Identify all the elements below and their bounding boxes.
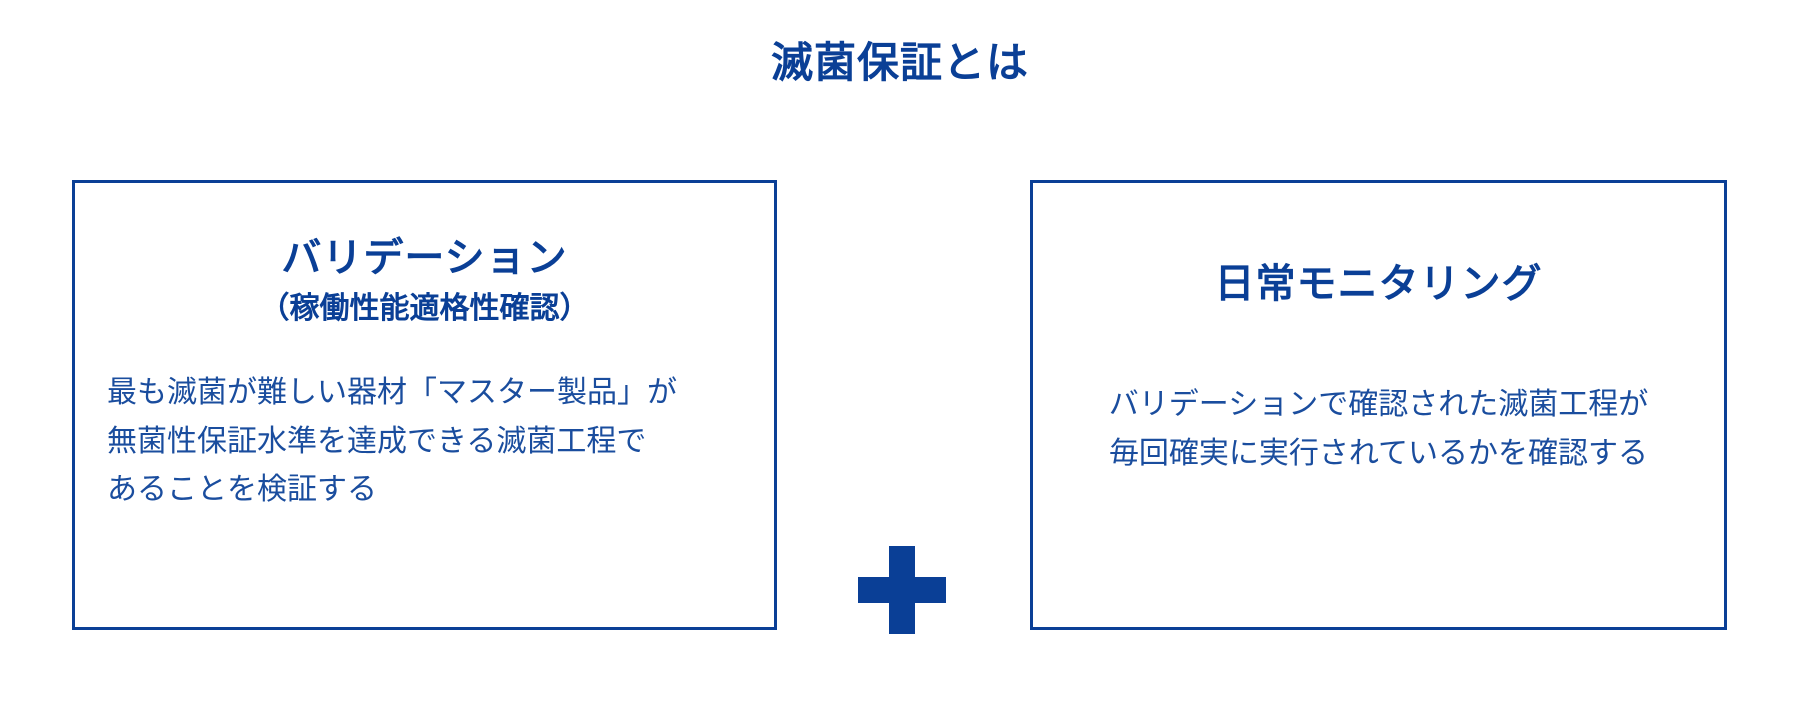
panel-validation: バリデーション （稼働性能適格性確認） 最も滅菌が難しい器材「マスター製品」が … [72, 180, 777, 630]
panel-validation-heading: バリデーション [75, 235, 774, 281]
page-title: 滅菌保証とは [0, 38, 1800, 88]
plus-icon-vertical-bar [889, 546, 915, 634]
panel-validation-body: 最も滅菌が難しい器材「マスター製品」が 無菌性保証水準を達成できる滅菌工程で あ… [107, 369, 750, 515]
panel-routine-monitoring-body: バリデーションで確認された滅菌工程が 毎回確実に実行されているかを確認する [1033, 381, 1724, 478]
panel-validation-subheading: （稼働性能適格性確認） [75, 291, 774, 327]
panel-routine-monitoring-heading: 日常モニタリング [1033, 261, 1724, 307]
panel-routine-monitoring-content: 日常モニタリング バリデーションで確認された滅菌工程が 毎回確実に実行されている… [1033, 261, 1724, 705]
panel-routine-monitoring: 日常モニタリング バリデーションで確認された滅菌工程が 毎回確実に実行されている… [1030, 180, 1727, 630]
panel-validation-content: バリデーション （稼働性能適格性確認） 最も滅菌が難しい器材「マスター製品」が … [75, 235, 774, 679]
panels-container: バリデーション （稼働性能適格性確認） 最も滅菌が難しい器材「マスター製品」が … [0, 180, 1800, 632]
plus-icon [858, 546, 946, 634]
